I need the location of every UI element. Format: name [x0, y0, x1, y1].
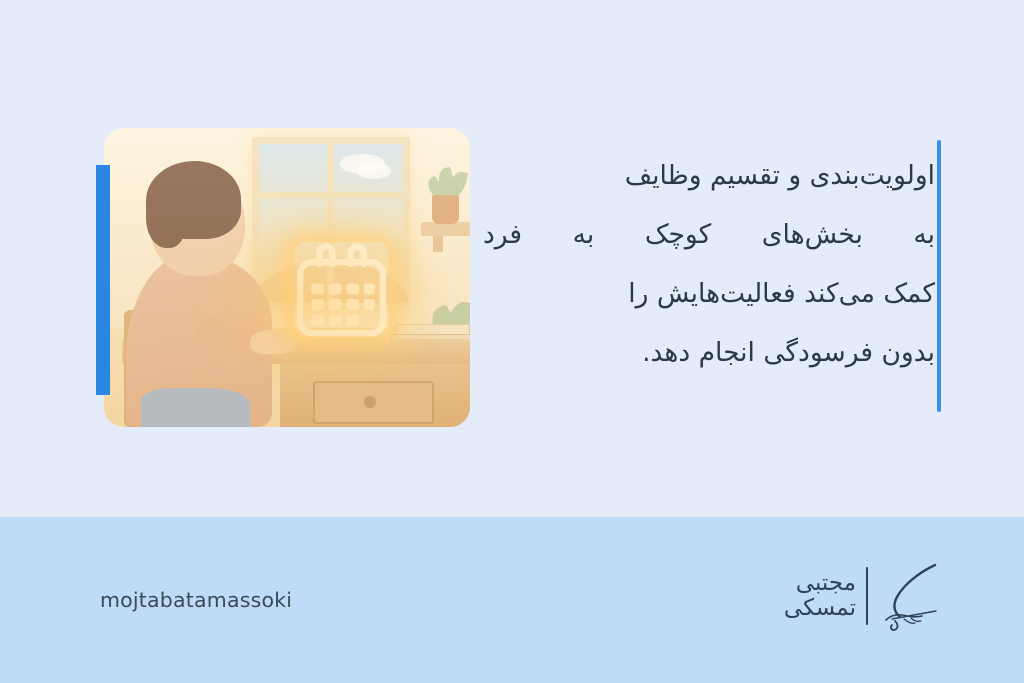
cloud-icon — [357, 163, 391, 179]
quote-word: بخش‌های — [762, 205, 863, 264]
quote-accent-rule — [937, 140, 941, 412]
quote-line-2: به بخش‌های کوچک به فرد — [483, 205, 935, 264]
brand-line-1: مجتبی — [796, 571, 856, 596]
quote-word: فرد — [483, 205, 522, 264]
person-hand — [250, 330, 294, 354]
quote-word: کوچک — [645, 205, 711, 264]
calendar-icon — [294, 242, 389, 338]
card-accent-bar — [96, 165, 110, 395]
person-lap — [141, 388, 251, 427]
calligraphy-signature-icon — [878, 559, 940, 633]
plant-pot-icon — [432, 195, 459, 223]
person-hair — [146, 188, 186, 248]
quote-word: به — [573, 205, 595, 264]
illustration-card — [104, 128, 470, 427]
brand-divider — [866, 567, 868, 625]
quote-line-1: اولویت‌بندی و تقسیم وظایف — [483, 146, 935, 205]
quote-line-4: بدون فرسودگی انجام دهد. — [483, 323, 935, 382]
quote-text: اولویت‌بندی و تقسیم وظایف به بخش‌های کوچ… — [483, 146, 935, 382]
brand-logo: مجتبی تمسکی — [784, 558, 940, 634]
illustration-scene — [104, 128, 470, 427]
wall-shelf — [421, 222, 470, 235]
quote-line-3: کمک می‌کند فعالیت‌هایش را — [483, 264, 935, 323]
poster-canvas: اولویت‌بندی و تقسیم وظایف به بخش‌های کوچ… — [0, 0, 1024, 683]
brand-words: مجتبی تمسکی — [784, 571, 856, 621]
quote-word: به — [913, 205, 935, 264]
brand-line-2: تمسکی — [784, 596, 856, 621]
calendar-glyph — [294, 242, 389, 338]
handle-text: mojtabatamassoki — [100, 588, 292, 612]
